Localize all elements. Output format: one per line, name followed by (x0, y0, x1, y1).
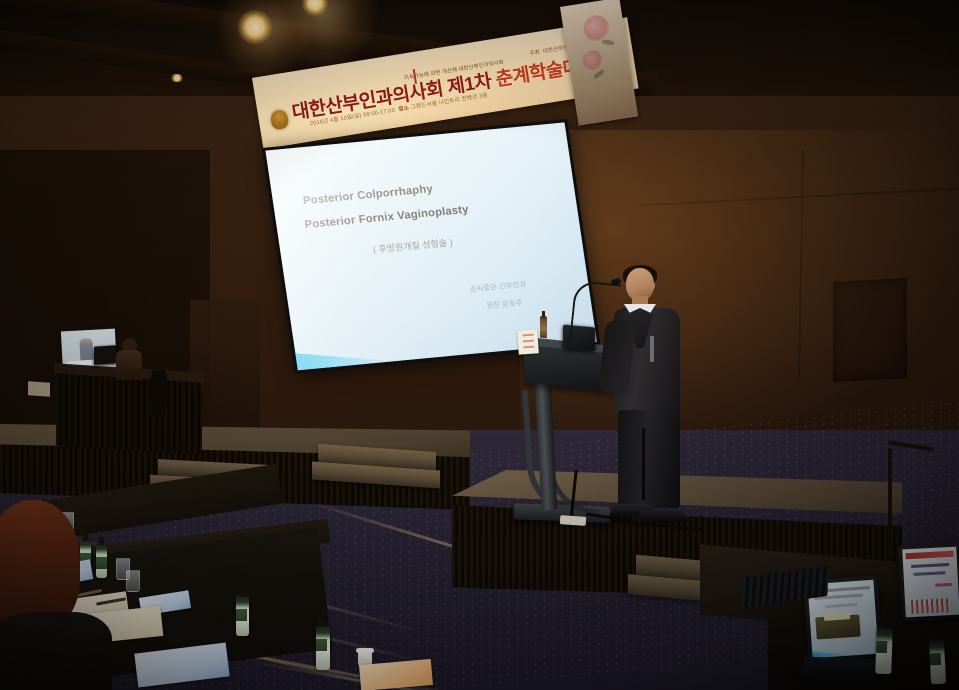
power-strip (560, 515, 587, 526)
presenter-trousers (618, 410, 680, 508)
water-bottle (236, 596, 249, 636)
wall-recess-panel (833, 278, 907, 382)
operator-table-card (28, 381, 50, 397)
drinking-glass (126, 570, 140, 592)
program-handout (359, 659, 433, 690)
mini-program-header-band (905, 551, 953, 560)
laptop-program-monitor[interactable] (900, 544, 959, 620)
mini-program-subtitle-bar (935, 583, 952, 586)
secondary-display-figure (79, 338, 93, 361)
stage-handrail (888, 448, 892, 558)
presenter-ear (649, 281, 655, 290)
ceiling-spotlight (238, 10, 272, 44)
operator-chair (149, 370, 167, 419)
slide-title-line-1: Posterior Colporrhaphy (302, 183, 433, 207)
av-operator (116, 338, 142, 378)
slide-title-line-2: Posterior Fornix Vaginoplasty (304, 204, 470, 231)
mini-program-title-bar (911, 563, 949, 568)
projection-screen-frame: Posterior Colporrhaphy Posterior Fornix … (262, 119, 600, 373)
slide-attribution-person: 원장 윤호주 (486, 297, 524, 311)
mini-slide-accent-wave (812, 643, 857, 658)
mini-slide-subtitle-bar (825, 603, 857, 608)
operator-laptop (94, 345, 116, 365)
seated-attendee (0, 500, 104, 690)
conference-hall-photo: 대한산부인과의사회 제1차 춘계학술대회 지속가능에 의한 개선체 대한산부인과… (0, 0, 959, 690)
laptop-lid (898, 542, 959, 621)
slide-attribution-clinic: 손씨좋은 산부인과 (469, 279, 527, 295)
laptop-screen-program (902, 547, 959, 618)
mini-program-graphic (911, 598, 952, 614)
attendee-torso (0, 612, 112, 690)
slide-accent-wave (291, 328, 416, 371)
mini-program-title-bar (913, 571, 946, 576)
water-bottle (540, 316, 547, 338)
presenter-lanyard (650, 336, 654, 362)
water-bottle (929, 640, 946, 685)
presenter-shoe (640, 510, 686, 522)
operator-body (116, 350, 142, 380)
podium-card-sign (517, 329, 539, 354)
water-bottle (316, 626, 330, 670)
laptop-keyboard[interactable] (796, 657, 883, 682)
slide-korean-subtitle: ( 후방원개질 성형술 ) (372, 235, 453, 255)
ceiling-spotlight (170, 74, 184, 82)
presenter (598, 268, 690, 526)
water-bottle (875, 628, 893, 675)
projection-screen: Posterior Colporrhaphy Posterior Fornix … (265, 122, 597, 370)
presenter-leg-separation (642, 428, 645, 500)
